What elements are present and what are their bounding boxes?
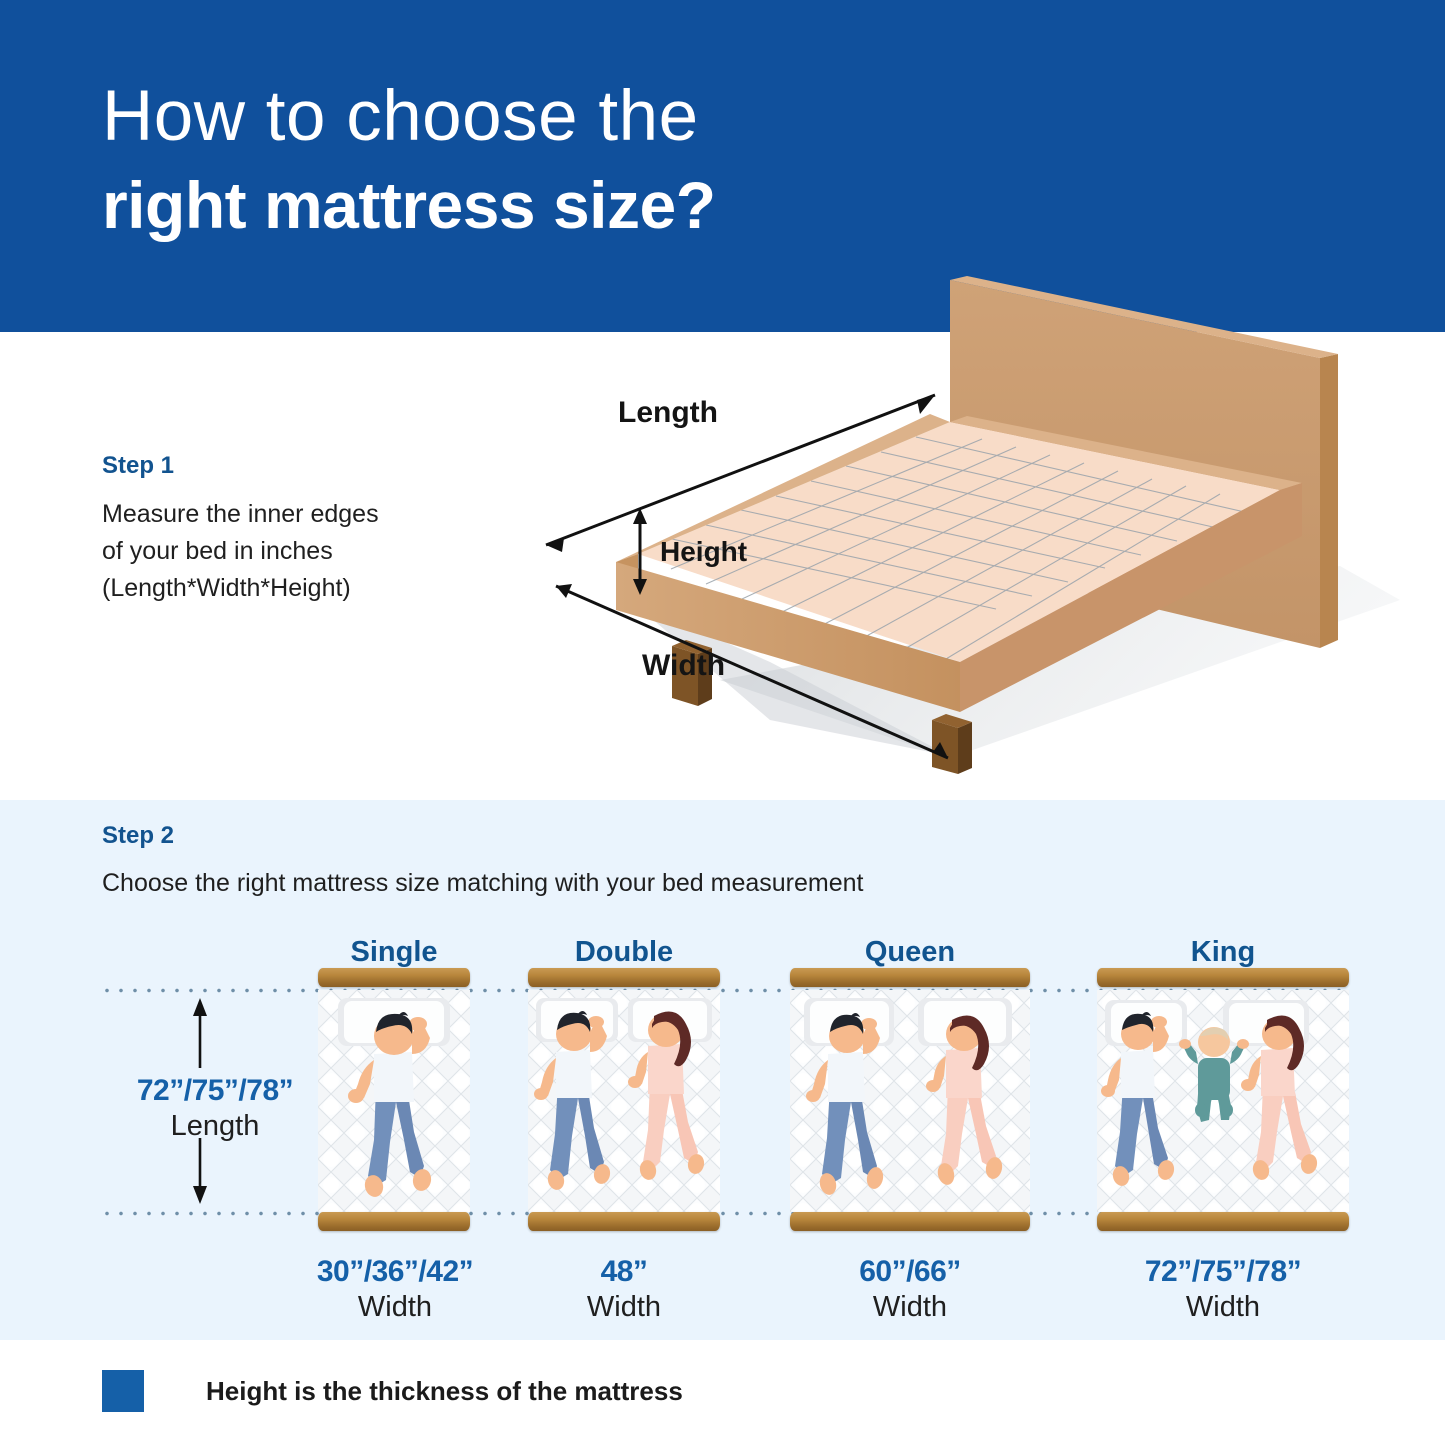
bed-card-king[interactable]: King	[1097, 990, 1349, 1212]
footer-note: Height is the thickness of the mattress	[102, 1370, 683, 1412]
length-gauge-label: 72”/75”/78” Length	[100, 1074, 330, 1143]
page-title: How to choose the right mattress size?	[102, 78, 716, 244]
step-2-block: Step 2 Choose the right mattress size ma…	[102, 822, 1352, 900]
bed-headboard-side	[1320, 354, 1338, 648]
footboard-bar-double	[528, 1212, 720, 1231]
width-value-single: 30”/36”/42”	[250, 1255, 540, 1289]
bed-illustration: Length Height Width	[520, 250, 1420, 785]
title-line-1: How to choose the	[102, 78, 716, 156]
bed-card-queen[interactable]: Queen	[790, 990, 1030, 1212]
width-value-queen: 60”/66”	[790, 1255, 1030, 1289]
title-line-2: right mattress size?	[102, 166, 716, 244]
footboard-bar-single	[318, 1212, 470, 1231]
bed-name-king: King	[1097, 936, 1349, 969]
step-2-label: Step 2	[102, 822, 1352, 850]
bed-name-queen: Queen	[790, 936, 1030, 969]
width-word-single: Width	[250, 1291, 540, 1324]
width-value-double: 48”	[534, 1255, 714, 1289]
length-gauge-unit: Length	[100, 1110, 330, 1143]
mattress-queen	[790, 990, 1030, 1212]
bed-leg-front	[932, 714, 972, 774]
headboard-bar-double	[528, 968, 720, 987]
width-value-king: 72”/75”/78”	[1078, 1255, 1368, 1289]
legend-swatch-icon	[102, 1370, 144, 1412]
label-width: Width	[642, 649, 725, 682]
mattress-king	[1097, 990, 1349, 1212]
step-1-body: Measure the inner edges of your bed in i…	[102, 496, 502, 607]
width-label-king: 72”/75”/78” Width	[1078, 1255, 1368, 1324]
label-length: Length	[618, 396, 718, 429]
step-1-block: Step 1 Measure the inner edges of your b…	[102, 452, 502, 607]
width-word-double: Width	[534, 1291, 714, 1324]
step-1-body-line-3: (Length*Width*Height)	[102, 570, 502, 607]
bed-name-double: Double	[528, 936, 720, 969]
step-1-body-line-2: of your bed in inches	[102, 533, 502, 570]
width-label-double: 48” Width	[534, 1255, 714, 1324]
bed-card-single[interactable]: Single	[318, 990, 470, 1212]
width-word-king: Width	[1078, 1291, 1368, 1324]
width-label-queen: 60”/66” Width	[790, 1255, 1030, 1324]
headboard-bar-king	[1097, 968, 1349, 987]
step-1-label: Step 1	[102, 452, 502, 480]
step-2-body: Choose the right mattress size matching …	[102, 866, 1352, 900]
gauge-arrowhead-down	[193, 1186, 207, 1204]
length-arrowhead-right	[917, 395, 935, 414]
step-1-body-line-1: Measure the inner edges	[102, 496, 502, 533]
mattress-single	[318, 990, 470, 1212]
headboard-bar-queen	[790, 968, 1030, 987]
width-label-single: 30”/36”/42” Width	[250, 1255, 540, 1324]
mattress-double	[528, 990, 720, 1212]
label-height: Height	[660, 536, 747, 567]
bed-name-single: Single	[318, 936, 470, 969]
bed-card-double[interactable]: Double	[528, 990, 720, 1212]
infographic-page: How to choose the right mattress size? S…	[0, 0, 1445, 1445]
gauge-arrowhead-up	[193, 998, 207, 1016]
width-word-queen: Width	[790, 1291, 1030, 1324]
footboard-bar-queen	[790, 1212, 1030, 1231]
headboard-bar-single	[318, 968, 470, 987]
footboard-bar-king	[1097, 1212, 1349, 1231]
footer-note-text: Height is the thickness of the mattress	[206, 1376, 683, 1407]
length-gauge-value: 72”/75”/78”	[100, 1074, 330, 1108]
